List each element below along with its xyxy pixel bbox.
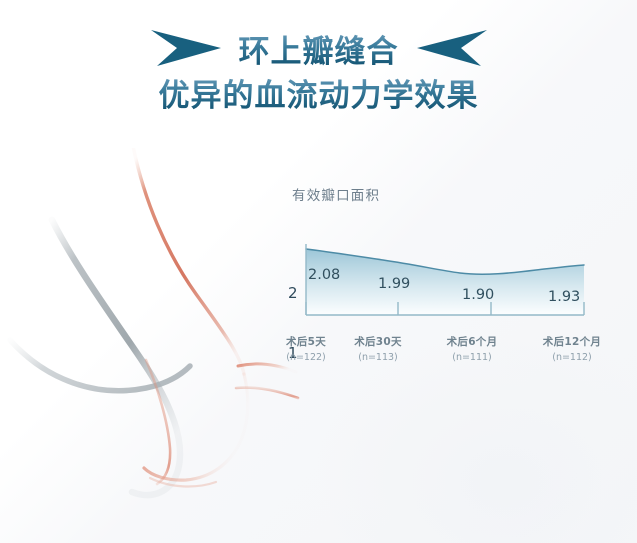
x-axis-category-3-name: 术后6个月 — [430, 334, 514, 349]
heart-valve-line-drawing — [0, 148, 300, 508]
y-axis-tick-label-2: 2 — [288, 284, 298, 302]
data-label-point-2: 1.99 — [378, 276, 410, 292]
x-axis-category-4: 术后12个月 (n=112) — [530, 334, 614, 363]
x-axis-category-2: 术后30天 (n=113) — [336, 334, 420, 363]
data-label-point-3: 1.90 — [462, 287, 494, 303]
x-axis-label-group: 术后5天 (n=122) 术后30天 (n=113) 术后6个月 (n=111)… — [286, 334, 616, 378]
x-axis-category-3: 术后6个月 (n=111) — [430, 334, 514, 363]
slide-canvas: 环上瓣缝合 优异的血流动力学效果 有效瓣口面积 — [0, 0, 637, 543]
headline-block: 环上瓣缝合 优异的血流动力学效果 — [0, 24, 637, 134]
chevron-left-arrow-icon — [413, 26, 491, 70]
chart-container: 有效瓣口面积 — [286, 184, 616, 379]
chart-plot-area: 2 1 2.08 1.99 1.90 1.93 — [286, 232, 616, 332]
data-label-point-4: 1.93 — [548, 289, 580, 305]
chart-title: 有效瓣口面积 — [292, 184, 616, 204]
chevron-right-arrow-icon — [147, 26, 225, 70]
x-axis-category-4-name: 术后12个月 — [530, 334, 614, 349]
x-axis-category-2-count: (n=113) — [336, 352, 420, 363]
x-axis-category-2-name: 术后30天 — [336, 334, 420, 349]
x-axis-category-4-count: (n=112) — [530, 352, 614, 363]
headline-line-2: 优异的血流动力学效果 — [159, 70, 479, 115]
headline-row-1: 环上瓣缝合 — [0, 24, 637, 72]
headline-line-1: 环上瓣缝合 — [239, 26, 399, 71]
x-axis-category-3-count: (n=111) — [430, 352, 514, 363]
headline-row-2: 优异的血流动力学效果 — [0, 70, 637, 114]
data-label-point-1: 2.08 — [308, 267, 340, 283]
area-series-fill — [306, 249, 584, 315]
